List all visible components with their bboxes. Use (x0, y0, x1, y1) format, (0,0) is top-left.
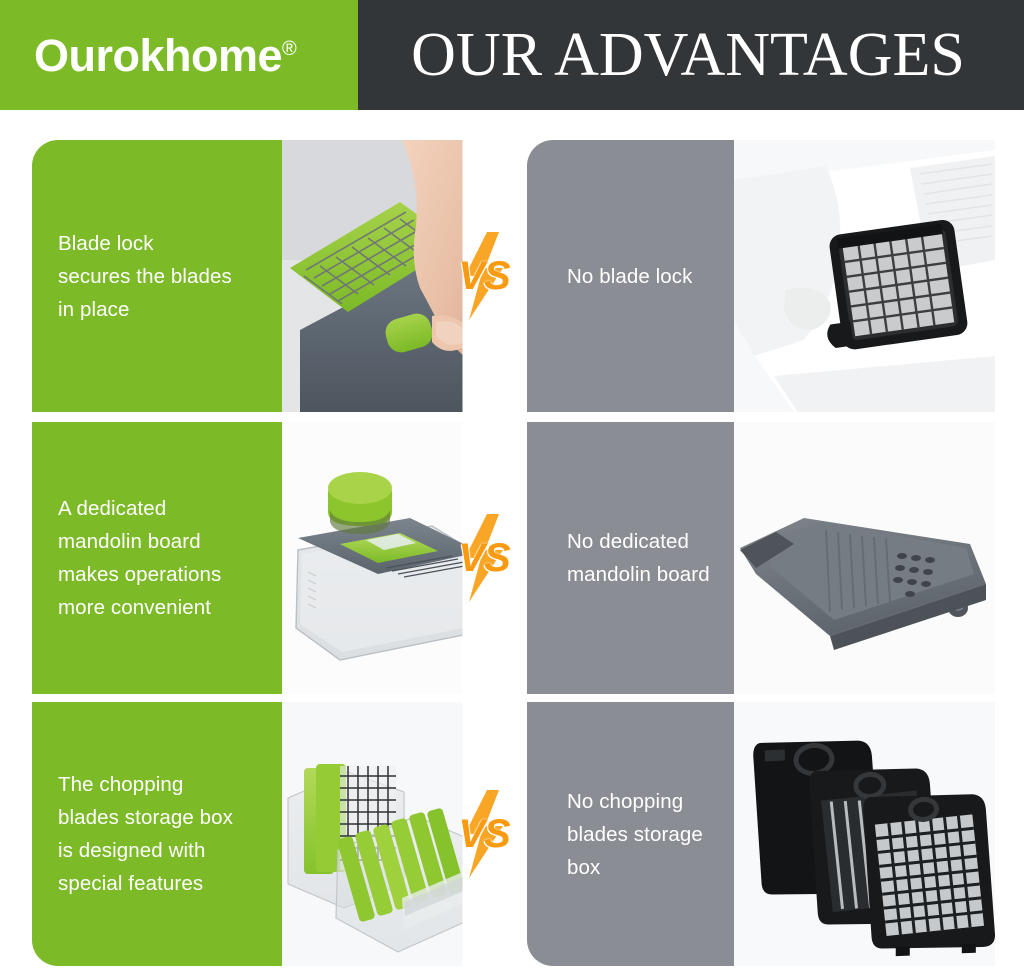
drawback-cell-blade-lock: No blade lock (527, 140, 995, 412)
page-title: OUR ADVANTAGES (411, 24, 965, 86)
drawback-text-mandolin-board: No dedicated mandolin board (527, 525, 718, 591)
page-header: Ourokhome® OUR ADVANTAGES (0, 0, 1024, 110)
drawback-photo-mandolin-board (734, 422, 995, 694)
advantage-photo-mandolin-board (282, 422, 484, 694)
advantage-cell-blade-lock: Blade lock secures the blades in place (32, 140, 484, 412)
brand-block: Ourokhome® (0, 0, 358, 110)
drawback-cell-mandolin-board: No dedicated mandolin board (527, 422, 995, 694)
advantage-cell-mandolin-board: A dedicated mandolin board makes operati… (32, 422, 484, 694)
drawback-cell-blade-storage-box: No chopping blades storage box (527, 702, 995, 966)
comparison-row-mandolin-board: A dedicated mandolin board makes operati… (0, 422, 1024, 694)
advantage-photo-blade-lock (282, 140, 484, 412)
drawback-photo-blade-storage-box (734, 702, 995, 966)
advantage-text-blade-storage-box: The chopping blades storage box is desig… (32, 768, 241, 900)
vs-gutter-row-3 (463, 702, 506, 966)
drawback-label-mandolin-board: No dedicated mandolin board (527, 422, 734, 694)
title-block: OUR ADVANTAGES (358, 0, 1024, 110)
registered-trademark-icon: ® (282, 38, 296, 60)
advantage-label-mandolin-board: A dedicated mandolin board makes operati… (32, 422, 282, 694)
vs-gutter-row-1 (463, 140, 506, 412)
comparison-row-blade-storage-box: The chopping blades storage box is desig… (0, 702, 1024, 966)
drawback-label-blade-lock: No blade lock (527, 140, 734, 412)
drawback-text-blade-lock: No blade lock (527, 260, 701, 293)
advantage-text-blade-lock: Blade lock secures the blades in place (32, 227, 240, 326)
advantage-cell-blade-storage-box: The chopping blades storage box is desig… (32, 702, 484, 966)
brand-name: Ourokhome (34, 30, 282, 81)
brand-logo: Ourokhome® (34, 33, 296, 78)
advantage-text-mandolin-board: A dedicated mandolin board makes operati… (32, 492, 229, 624)
advantage-photo-blade-storage-box (282, 702, 484, 966)
drawback-label-blade-storage-box: No chopping blades storage box (527, 702, 734, 966)
vs-gutter-row-2 (463, 422, 506, 694)
comparison-row-blade-lock: Blade lock secures the blades in place (0, 140, 1024, 412)
drawback-text-blade-storage-box: No chopping blades storage box (527, 785, 711, 884)
comparison-grid: Blade lock secures the blades in place (0, 110, 1024, 978)
advantage-label-blade-lock: Blade lock secures the blades in place (32, 140, 282, 412)
drawback-photo-blade-lock (734, 140, 995, 412)
advantage-label-blade-storage-box: The chopping blades storage box is desig… (32, 702, 282, 966)
